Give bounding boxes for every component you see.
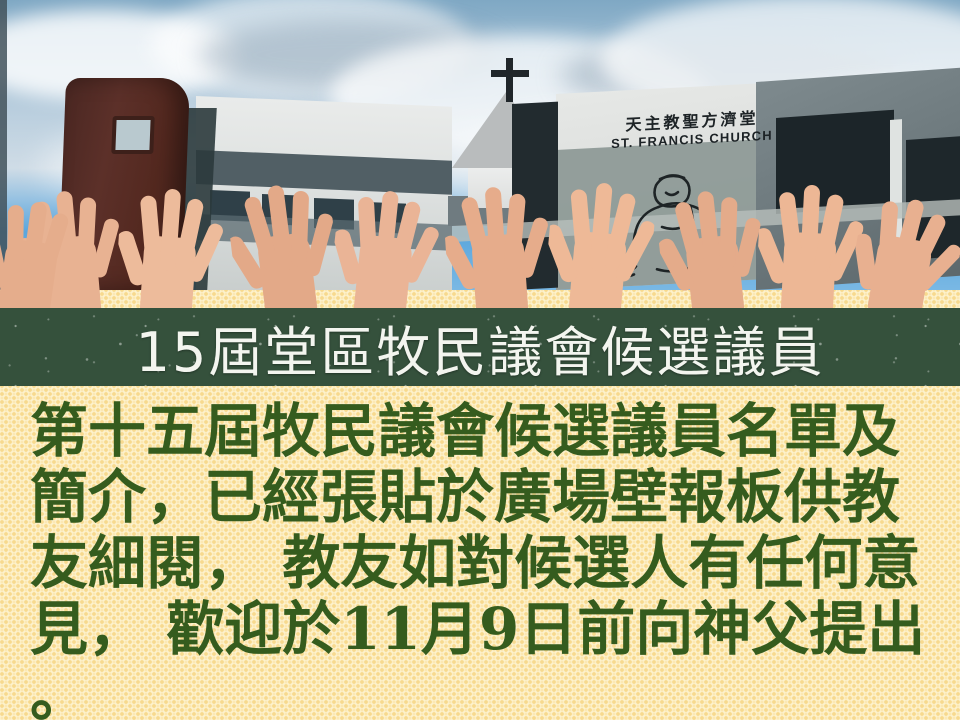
announcement-body: 第十五屆牧民議會候選議員名單及 簡介，已經張貼於廣場壁報板供教 友細閱， 教友如… xyxy=(30,398,942,720)
cross-icon xyxy=(491,70,529,77)
body-line: 友細閱， 教友如對候選人有任何意 xyxy=(30,530,942,596)
body-line: 見， 歡迎於11月9日前向神父提出 xyxy=(30,596,942,662)
raised-hand-icon xyxy=(113,172,227,329)
raised-hand-icon xyxy=(652,170,771,330)
raised-hand-icon xyxy=(223,169,345,331)
body-line: 簡介，已經張貼於廣場壁報板供教 xyxy=(30,464,942,530)
body-line: 。 xyxy=(30,662,942,720)
tower-window xyxy=(111,116,154,154)
raised-hand-icon xyxy=(326,170,445,330)
raised-hands-group xyxy=(0,150,960,325)
banner-title: 15屆堂區牧民議會候選議員 xyxy=(136,308,825,386)
raised-hand-icon xyxy=(542,171,659,329)
poster-root: 天主教聖方濟堂 ST. FRANCIS CHURCH xyxy=(0,0,960,720)
raised-hand-icon xyxy=(441,172,555,329)
title-banner: 15屆堂區牧民議會候選議員 xyxy=(0,308,960,386)
body-line: 第十五屆牧民議會候選議員名單及 xyxy=(30,398,942,464)
cross-icon xyxy=(506,58,513,102)
